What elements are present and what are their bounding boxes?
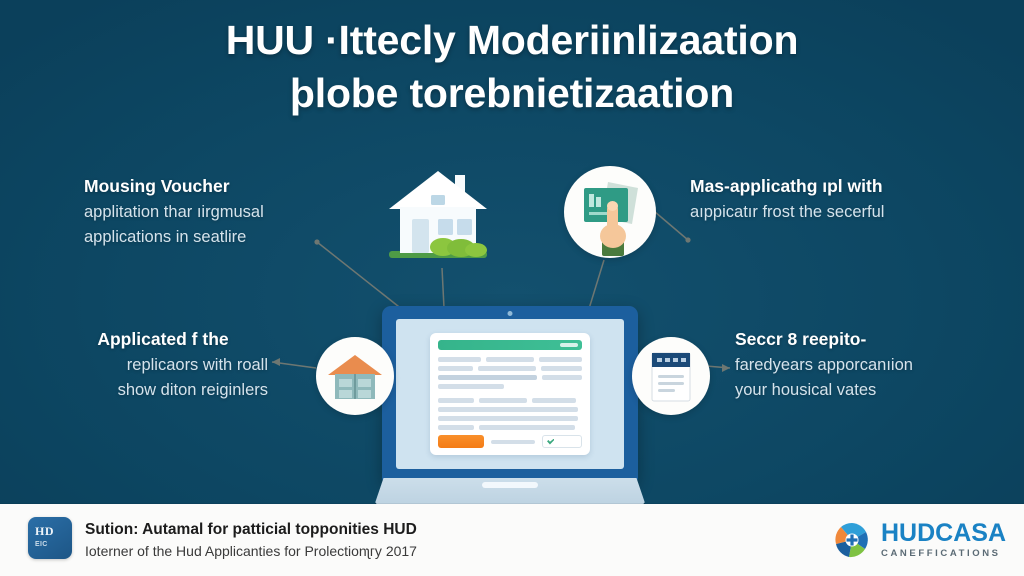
title-line-2: þlobe torebnietizaation xyxy=(0,67,1024,120)
pinwheel-logo-icon xyxy=(832,520,872,560)
form-field-row xyxy=(438,384,582,389)
form-field-row xyxy=(438,398,582,403)
form-field-row xyxy=(438,357,582,362)
footer-subtitle: Ioterner of the Hud Applicanties for Pro… xyxy=(85,541,417,561)
callout-bottom-left: Applicated f the replicaors with roall s… xyxy=(68,327,268,404)
brand-words: HUDCASA CANEFFICATIONS xyxy=(881,520,1006,560)
callout-line: show diton reiginlers xyxy=(68,378,268,403)
footer-text-group: Sution: Autamal for patticial topponitie… xyxy=(85,517,417,561)
form-field-row xyxy=(438,407,582,412)
form-field-row xyxy=(438,366,582,371)
callout-top-right: Mas-applicathg ıpl with aıppicatır frost… xyxy=(690,174,884,225)
document-icon xyxy=(632,337,710,415)
verified-button[interactable] xyxy=(542,435,582,448)
hud-badge-bottom-text: ΕΙС xyxy=(35,540,67,549)
callout-heading: Mousing Voucher xyxy=(84,174,264,199)
laptop-lid xyxy=(382,306,638,482)
hud-seal-icon: HD ΕΙС xyxy=(28,517,72,559)
form-header-pill xyxy=(560,343,578,347)
callout-top-left: Mousing Voucher applitаtion thar ıirgmus… xyxy=(84,174,264,251)
connector-house-big xyxy=(442,268,444,308)
application-form-card xyxy=(430,333,590,455)
brand-name: HUDCASA xyxy=(881,521,1006,546)
form-header-bar xyxy=(438,340,582,350)
footer-bar: HD ΕΙС Sution: Autamal for patticial top… xyxy=(0,504,1024,576)
check-icon xyxy=(547,439,554,445)
hand-pointing-document-icon xyxy=(564,166,656,258)
form-actions xyxy=(438,435,582,448)
form-note-line xyxy=(491,440,535,444)
brand-tagline: CANEFFICATIONS xyxy=(881,547,1006,560)
form-field-row xyxy=(438,425,582,430)
title-line-1: HUU ·Ittecly Moderiinlizaation xyxy=(0,14,1024,67)
brand-logo-group: HUDCASA CANEFFICATIONS xyxy=(832,520,1006,560)
submit-button[interactable] xyxy=(438,435,484,448)
house-orange-roof-icon xyxy=(316,337,394,415)
laptop-trackpad xyxy=(482,482,538,488)
callout-line: replicaors with roall xyxy=(68,353,268,378)
callout-heading: Mas-applicathg ıpl with xyxy=(690,174,884,199)
callout-bottom-right: Seccr 8 reepito- faredyears apporcanıion… xyxy=(735,327,913,404)
callout-line: faredyears apporcanıion xyxy=(735,353,913,378)
callout-line: aıppicatır frost the secerful xyxy=(690,200,884,225)
callout-line: applications in seatlire xyxy=(84,225,264,250)
footer-left-group: HD ΕΙС Sution: Autamal for patticial top… xyxy=(28,517,417,561)
footer-title: Sution: Autamal for patticial topponitie… xyxy=(85,519,417,541)
callout-line: applitаtion thar ıirgmusal xyxy=(84,200,264,225)
form-field-row xyxy=(438,416,582,421)
connector-hand xyxy=(588,260,604,312)
house-icon xyxy=(383,163,493,268)
laptop-camera xyxy=(508,311,513,316)
laptop-screen xyxy=(396,319,624,469)
callout-heading: Applicated f the xyxy=(68,327,268,352)
hud-badge-top-text: HD xyxy=(35,525,65,538)
laptop-icon xyxy=(374,306,646,506)
form-field-row xyxy=(438,375,582,380)
callout-line: your housical vates xyxy=(735,378,913,403)
infographic-canvas: HUU ·Ittecly Moderiinlizaation þlobe tor… xyxy=(0,0,1024,576)
callout-heading: Seccr 8 reepito- xyxy=(735,327,913,352)
page-title: HUU ·Ittecly Moderiinlizaation þlobe tor… xyxy=(0,14,1024,121)
